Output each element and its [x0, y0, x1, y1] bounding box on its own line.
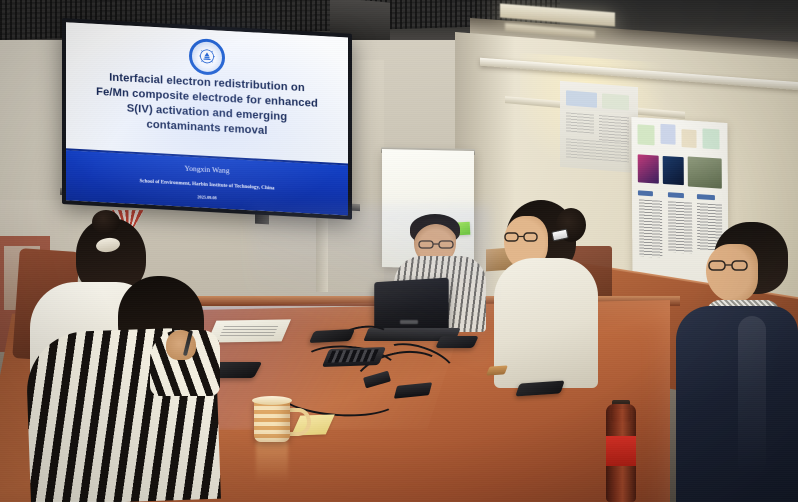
man-navy-jacket-face [706, 244, 758, 302]
smartphone [435, 336, 479, 348]
presentation-slide: Interfacial electron redistribution on F… [66, 22, 348, 215]
logo-emblem-icon [197, 48, 217, 65]
wall-poster-far [560, 81, 638, 173]
laptop-screen [374, 278, 448, 333]
projection-screen: Interfacial electron redistribution on F… [62, 18, 352, 220]
man-navy-jacket [676, 306, 798, 502]
man-glasses-icon [708, 260, 748, 271]
paper-document-text [220, 326, 278, 336]
mug-rim [252, 396, 292, 405]
woman-glasses-icon [504, 232, 538, 242]
person-hair-bun [92, 210, 120, 234]
cola-bottle-label [606, 436, 636, 466]
laptop-logo [400, 320, 418, 324]
jacket-highlight [738, 316, 766, 476]
power-strip-sockets [327, 349, 379, 363]
presenter-glasses-icon [418, 240, 454, 249]
mug-reflection [256, 440, 288, 482]
meeting-room-photo: Interfacial electron redistribution on F… [0, 0, 798, 502]
woman-white-top-torso [494, 258, 598, 388]
harbin-institute-of-technology-logo [189, 38, 225, 76]
